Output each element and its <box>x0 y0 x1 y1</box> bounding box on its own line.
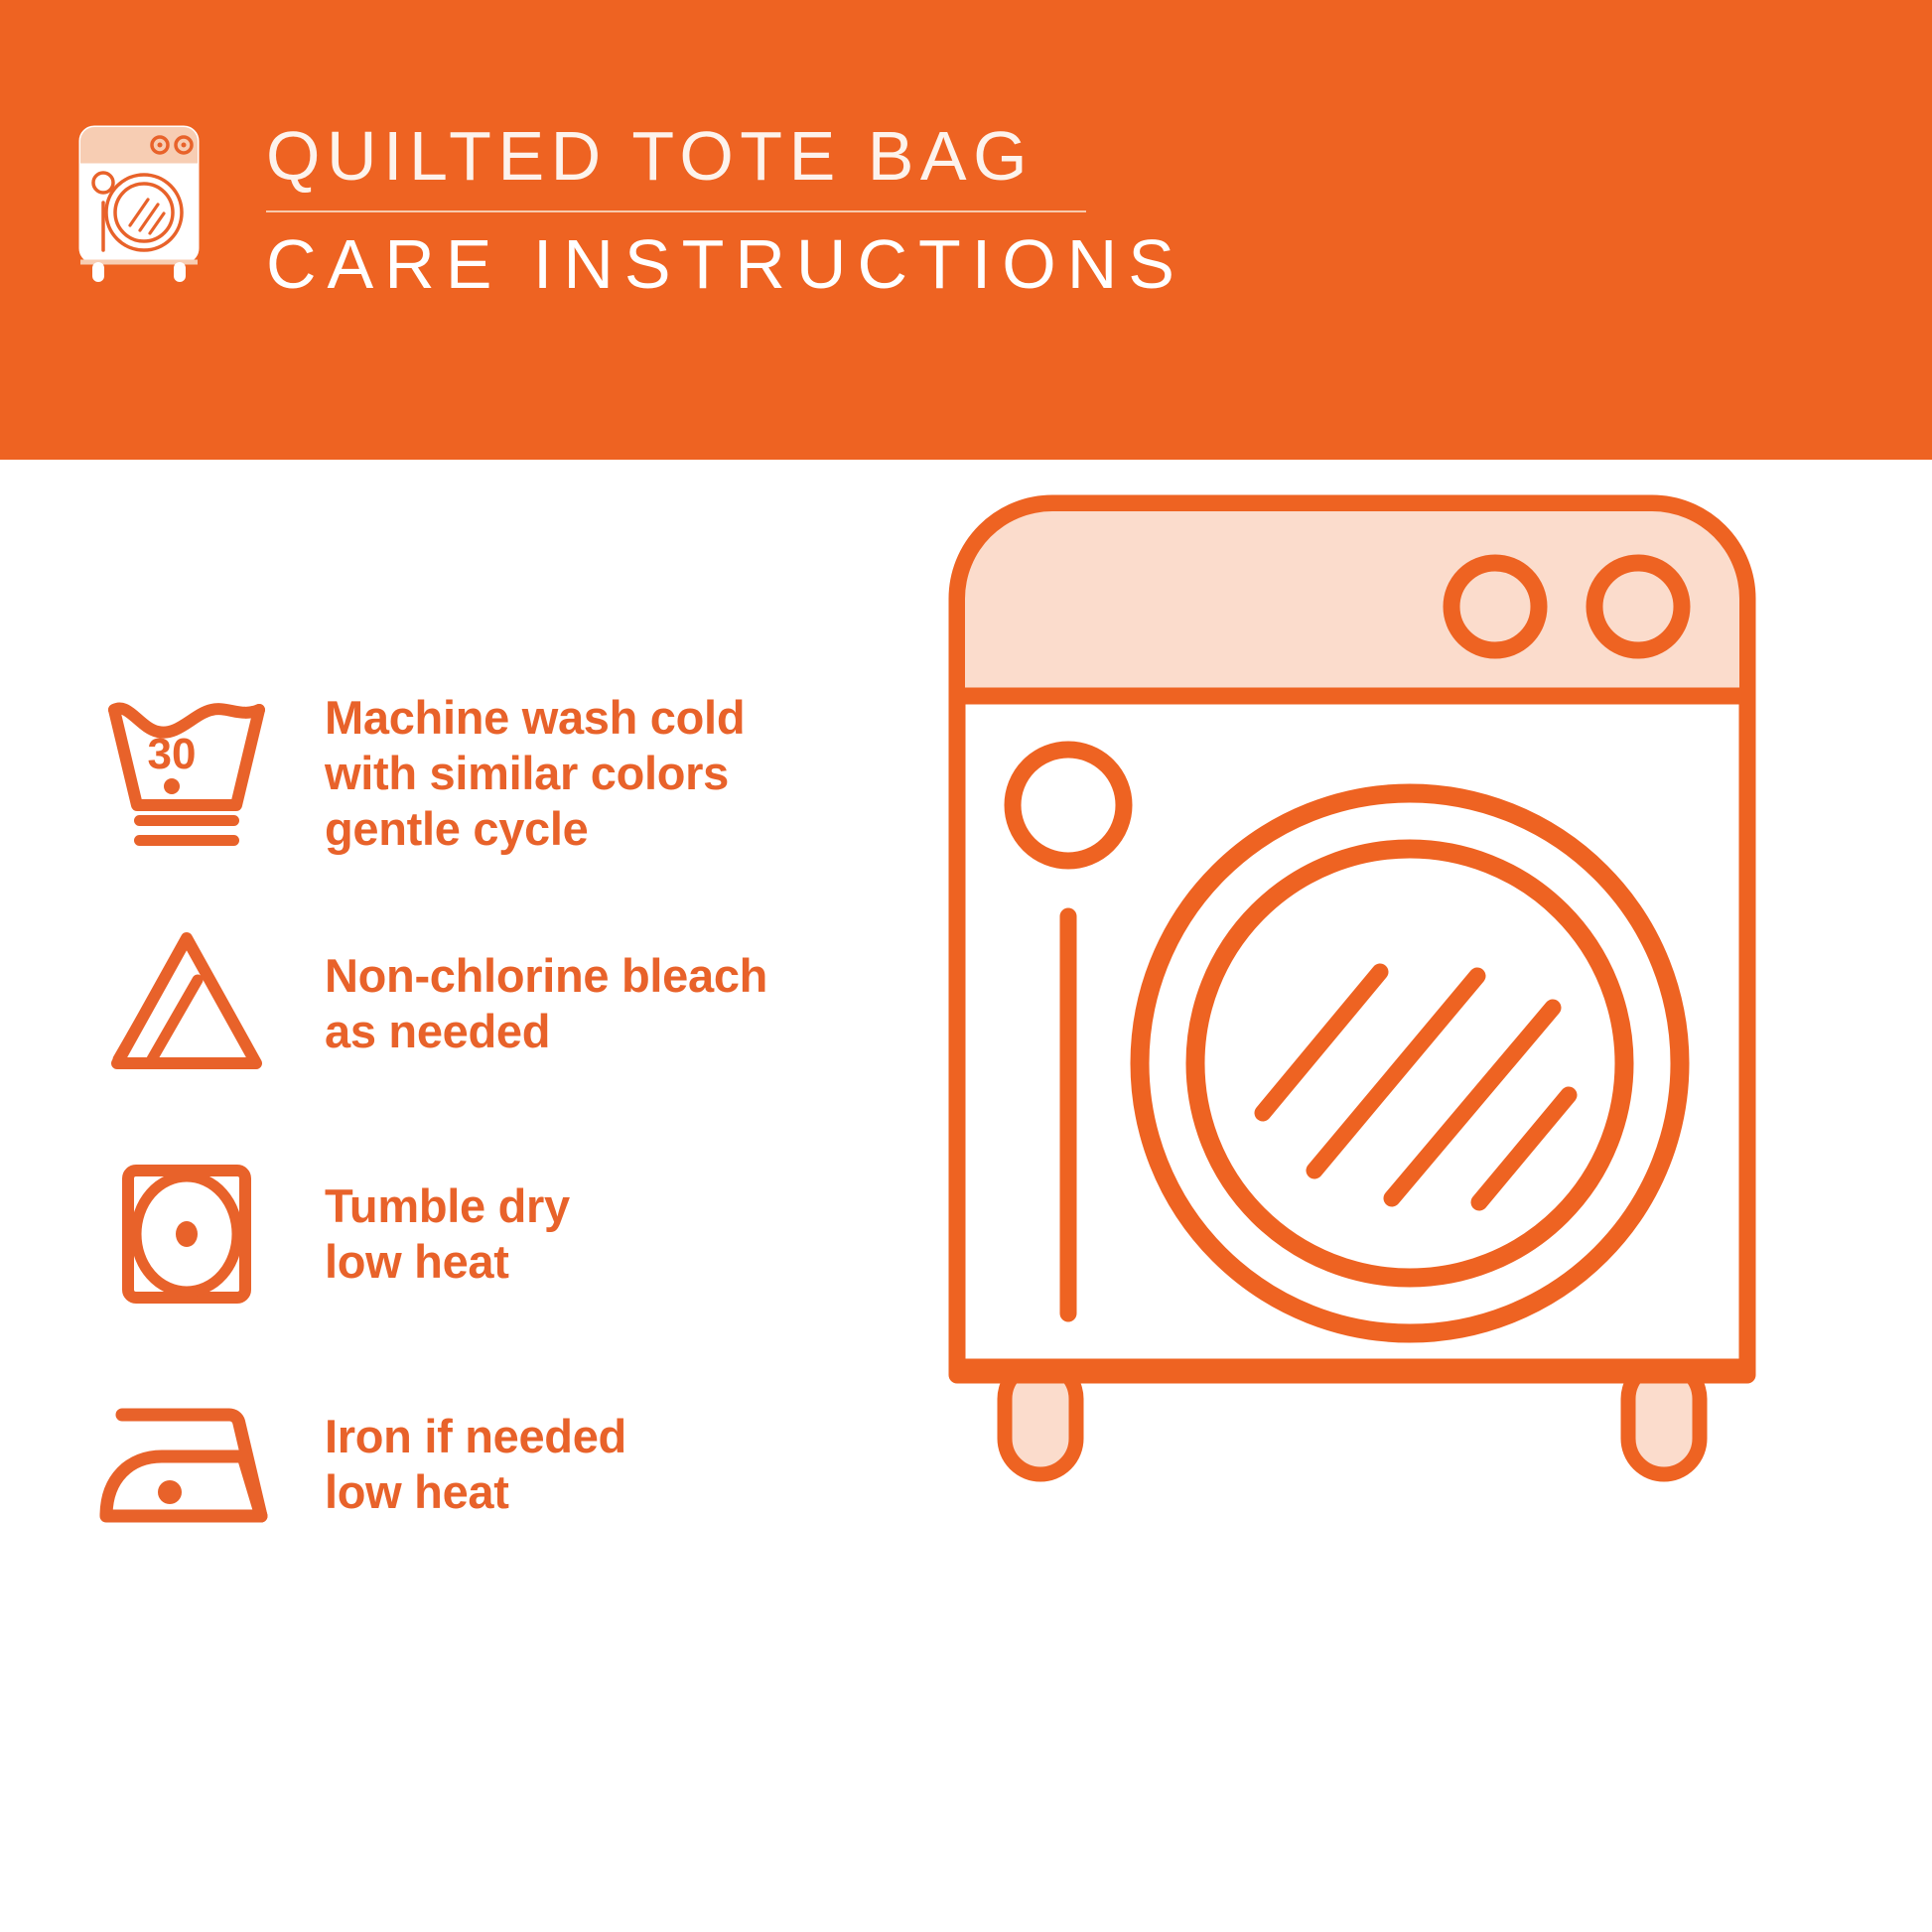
wash-temperature-label: 30 <box>147 730 196 778</box>
tumble-dry-low-icon <box>79 1135 293 1333</box>
care-instructions-list: 30 Machine wash cold with similar colors… <box>79 658 903 1580</box>
care-line: Machine wash cold <box>325 690 903 746</box>
care-text-bleach: Non-chlorine bleach as needed <box>325 948 903 1059</box>
care-line: Iron if needed <box>325 1409 903 1464</box>
non-chlorine-bleach-icon <box>79 904 293 1103</box>
care-line: Non-chlorine bleach <box>325 948 903 1004</box>
header-banner: QUILTED TOTE BAG CARE INSTRUCTIONS <box>0 0 1932 460</box>
care-text-iron: Iron if needed low heat <box>325 1409 903 1520</box>
washing-machine-icon <box>74 121 204 286</box>
header-content: QUILTED TOTE BAG CARE INSTRUCTIONS <box>74 117 1315 296</box>
care-line: low heat <box>325 1234 903 1290</box>
title-divider <box>266 210 1086 212</box>
care-row-machine-wash: 30 Machine wash cold with similar colors… <box>79 658 903 889</box>
main-content: 30 Machine wash cold with similar colors… <box>0 460 1932 1932</box>
care-line: with similar colors <box>325 746 903 801</box>
care-row-iron: Iron if needed low heat <box>79 1349 903 1580</box>
page-subtitle: CARE INSTRUCTIONS <box>266 226 1315 302</box>
machine-wash-30-gentle-icon: 30 <box>79 674 293 873</box>
iron-low-heat-icon <box>79 1365 293 1564</box>
care-row-bleach: Non-chlorine bleach as needed <box>79 889 903 1119</box>
care-line: Tumble dry <box>325 1178 903 1234</box>
care-row-tumble-dry: Tumble dry low heat <box>79 1119 903 1349</box>
machine-knob-right <box>1594 563 1682 650</box>
care-text-machine-wash: Machine wash cold with similar colors ge… <box>325 690 903 857</box>
care-line: gentle cycle <box>325 801 903 857</box>
washing-machine-illustration <box>943 489 1857 1542</box>
care-line: low heat <box>325 1464 903 1520</box>
machine-knob-left <box>1451 563 1539 650</box>
care-line: as needed <box>325 1004 903 1059</box>
care-text-tumble-dry: Tumble dry low heat <box>325 1178 903 1290</box>
header-titles: QUILTED TOTE BAG CARE INSTRUCTIONS <box>266 117 1315 302</box>
page-title: QUILTED TOTE BAG <box>266 117 1315 195</box>
